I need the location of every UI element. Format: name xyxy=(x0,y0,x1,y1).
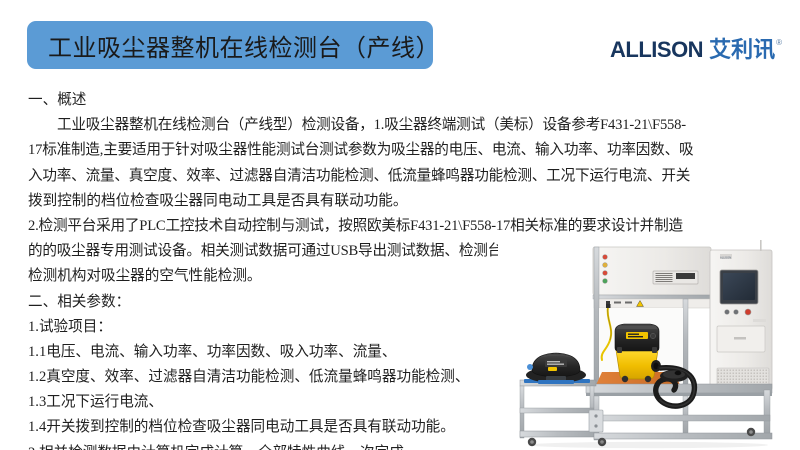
logo-text-cn: 艾利讯 xyxy=(709,38,775,62)
text-line: 拨到控制的档位检查吸尘器同电动工具是否具有联动功能。 xyxy=(28,189,772,214)
touchscreen-display xyxy=(723,273,755,300)
vacuum-cleaner-yellow xyxy=(615,324,661,382)
text-line: 入功率、流量、真空度、效率、过滤器自清洁功能检测、低流量蜂鸣器功能检测、工况下运… xyxy=(28,164,772,189)
test-chamber-hood xyxy=(593,247,711,308)
cabinet-vent xyxy=(717,368,769,385)
svg-text:ALLISON: ALLISON xyxy=(720,256,731,260)
frame-post-left xyxy=(594,247,599,387)
text-line: 一、概述 xyxy=(28,88,772,113)
page-title-banner: 工业吸尘器整机在线检测台（产线） xyxy=(27,21,433,69)
registered-trademark-icon: ® xyxy=(776,38,782,48)
page-title: 工业吸尘器整机在线检测台（产线） xyxy=(27,28,440,63)
brand-logo: ALLISON 艾利讯 ® xyxy=(610,38,782,62)
control-cabinet: ALLISON xyxy=(710,240,772,390)
emergency-stop-button xyxy=(745,309,751,315)
logo-text-en: ALLISON xyxy=(610,38,703,62)
text-line: 2.检测平台采用了PLC工控技术自动控制与测试，按照欧美标F431-21\F55… xyxy=(28,214,772,239)
bench-top-rail xyxy=(586,384,772,393)
test-bench-photo: ALLISON xyxy=(498,240,798,450)
text-line: 工业吸尘器整机在线检测台（产线型）检测设备，1.吸尘器终端测试（美标）设备参考F… xyxy=(28,113,772,138)
text-line: 17标准制造,主要适用于针对吸尘器性能测试台测试参数为吸尘器的电压、电流、输入功… xyxy=(28,138,772,163)
slide-page: 工业吸尘器整机在线检测台（产线） ALLISON 艾利讯 ® 一、概述 工业吸尘… xyxy=(0,0,800,450)
